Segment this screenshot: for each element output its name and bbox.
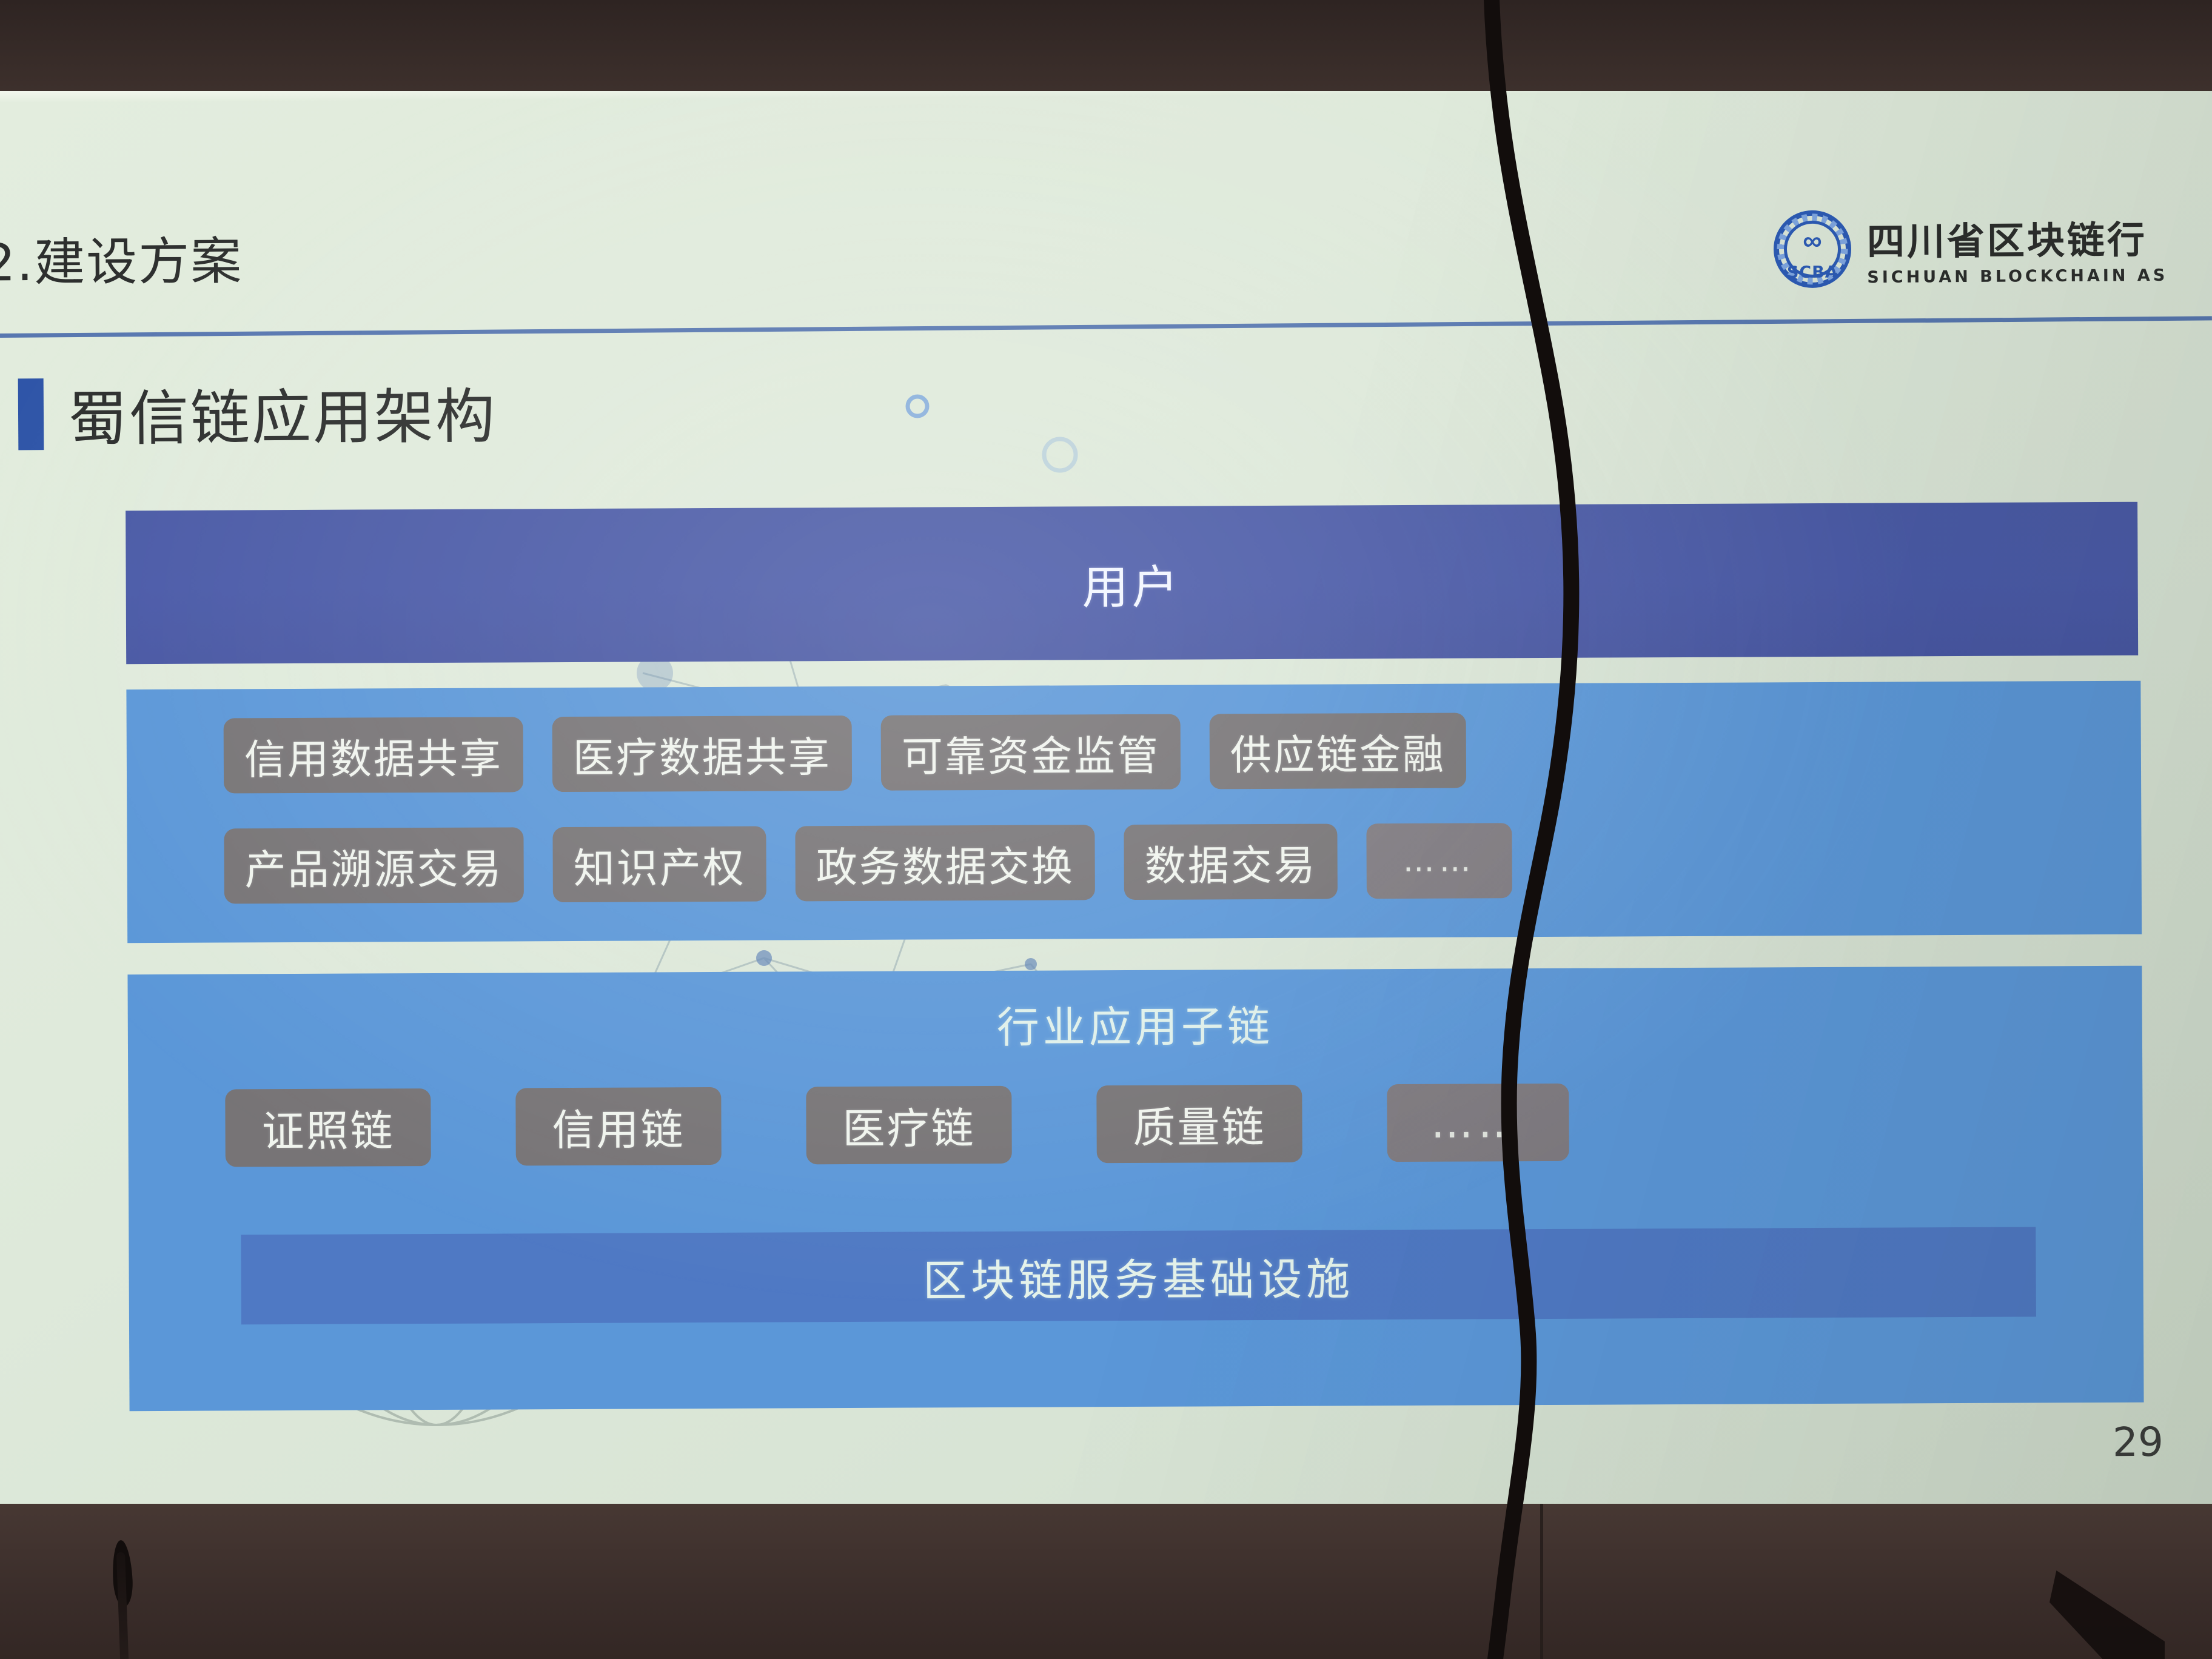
app-chip[interactable]: 供应链金融 — [1210, 713, 1467, 789]
app-chip[interactable]: 政务数据交换 — [795, 825, 1095, 901]
application-row-1: 信用数据共享 医疗数据共享 可靠资金监管 供应链金融 — [224, 713, 1467, 794]
app-chip[interactable]: 产品溯源交易 — [224, 827, 524, 903]
app-chip[interactable]: 可靠资金监管 — [881, 714, 1181, 791]
users-band: 用户 — [126, 502, 2138, 664]
app-chip[interactable]: 信用数据共享 — [224, 717, 524, 793]
industry-chains-panel: 行业应用子链 证照链 信用链 医疗链 质量链 …… 区块链服务基础设施 — [127, 966, 2143, 1411]
room-wall-bottom — [0, 1504, 2212, 1659]
chain-chip[interactable]: 信用链 — [515, 1087, 722, 1165]
logo-name-cn: 四川省区块链行 — [1867, 209, 2168, 265]
chain-row: 证照链 信用链 医疗链 质量链 …… — [225, 1084, 1569, 1167]
chain-chip-ellipsis[interactable]: …… — [1387, 1084, 1569, 1162]
chain-chip[interactable]: 证照链 — [225, 1088, 431, 1167]
app-chip-ellipsis[interactable]: …… — [1366, 823, 1512, 899]
screen-top-edge — [0, 91, 2212, 103]
organization-logo: ∞ SCBA 四川省区块链行 SICHUAN BLOCKCHAIN AS — [1774, 208, 2168, 289]
applications-panel: 信用数据共享 医疗数据共享 可靠资金监管 供应链金融 产品溯源交易 知识产权 政… — [126, 681, 2142, 943]
infrastructure-label: 区块链服务基础设施 — [923, 1243, 1354, 1309]
chain-chip[interactable]: 质量链 — [1096, 1085, 1302, 1163]
infinity-icon: ∞ — [1803, 228, 1822, 255]
infrastructure-bar: 区块链服务基础设施 — [241, 1227, 2036, 1324]
header-divider — [0, 316, 2212, 338]
users-label: 用户 — [1082, 549, 1181, 617]
section-title: 2.建设方案 — [0, 221, 243, 296]
wall-panel-seam — [1540, 1504, 1543, 1659]
logo-name-en: SICHUAN BLOCKCHAIN AS — [1867, 266, 2168, 286]
seal-acronym: SCBA — [1787, 263, 1838, 283]
photo-of-projected-slide: 2.建设方案 ∞ SCBA 四川省区块链行 SICHUAN BLOCKCHAIN… — [0, 0, 2212, 1659]
scba-seal-icon: ∞ SCBA — [1774, 210, 1852, 288]
room-wall-top — [0, 0, 2212, 91]
architecture-diagram: 用户 信用数据共享 医疗数据共享 可靠资金监管 供应链金融 产品溯源交易 知识产… — [125, 408, 2130, 1411]
app-chip[interactable]: 医疗数据共享 — [552, 716, 853, 792]
chain-chip[interactable]: 医疗链 — [806, 1086, 1012, 1164]
app-chip[interactable]: 数据交易 — [1124, 823, 1338, 900]
industry-chains-title: 行业应用子链 — [128, 989, 2142, 1059]
page-number: 29 — [2113, 1419, 2164, 1466]
application-row-2: 产品溯源交易 知识产权 政务数据交换 数据交易 …… — [224, 823, 1512, 903]
projection-screen: 2.建设方案 ∞ SCBA 四川省区块链行 SICHUAN BLOCKCHAIN… — [0, 91, 2212, 1504]
title-accent-bar — [18, 378, 44, 450]
app-chip[interactable]: 知识产权 — [552, 826, 766, 903]
